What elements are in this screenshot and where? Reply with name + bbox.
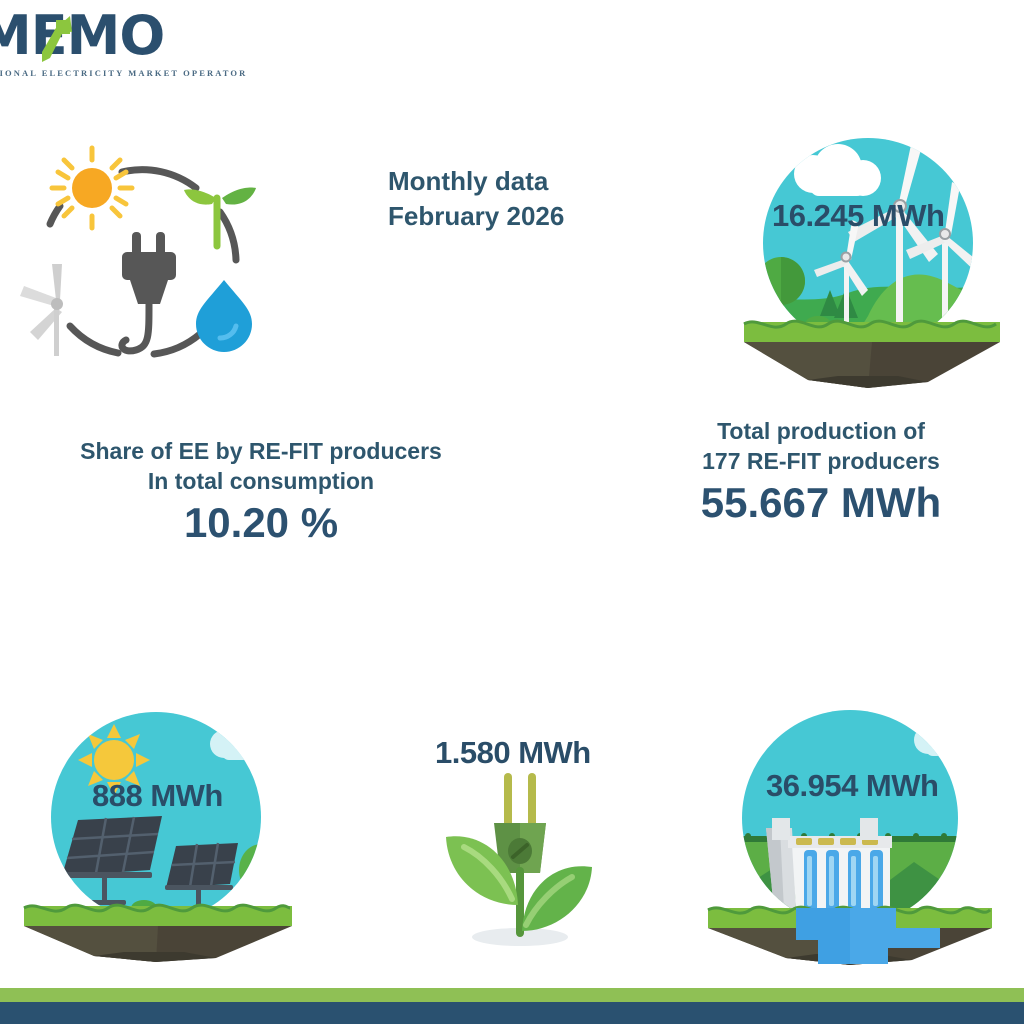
biomass-plug-plant-icon: [420, 765, 620, 950]
hydro-dam-island-icon: [700, 710, 1000, 965]
total-value: 55.667 MWh: [628, 476, 1014, 530]
footer-green-bar: [0, 988, 1024, 1002]
share-summary-block: Share of EE by RE-FIT producers In total…: [18, 436, 504, 550]
page-title: Monthly data February 2026: [388, 164, 648, 234]
biomass-value-label: 1.580 MWh: [435, 735, 591, 771]
tree-icon: [239, 844, 283, 914]
share-caption-line1: Share of EE by RE-FIT producers: [18, 436, 504, 466]
share-caption-line2: In total consumption: [18, 466, 504, 496]
solar-value-label: 888 MWh: [92, 778, 223, 814]
period-line: February 2026: [388, 199, 648, 234]
total-caption-line1: Total production of: [628, 416, 1014, 446]
cloud-icon: [210, 722, 264, 760]
brand-logo: MEMO NATIONAL ELECTRICITY MARKET OPERATO…: [0, 8, 198, 78]
wind-turbine-icon: [20, 264, 63, 356]
water-drop-icon: [196, 280, 252, 352]
brand-tagline: NATIONAL ELECTRICITY MARKET OPERATOR: [0, 68, 247, 78]
hydro-value-label: 36.954 MWh: [766, 768, 938, 804]
brand-logo-wordmark: MEMO: [0, 8, 164, 64]
sprout-icon: [184, 187, 256, 246]
power-plug-icon: [122, 232, 176, 351]
total-caption-line2: 177 RE-FIT producers: [628, 446, 1014, 476]
wind-value-label: 16.245 MWh: [772, 198, 944, 234]
share-value: 10.20 %: [18, 496, 504, 550]
total-production-block: Total production of 177 RE-FIT producers…: [628, 416, 1014, 530]
infographic-canvas: MEMO NATIONAL ELECTRICITY MARKET OPERATO…: [0, 0, 1024, 1024]
sun-icon: [52, 148, 132, 228]
green-up-arrow-icon: [36, 14, 76, 64]
wind-turbine-island-icon: [738, 138, 1006, 388]
monthly-data-line: Monthly data: [388, 164, 648, 199]
footer-navy-bar: [0, 1002, 1024, 1024]
solar-panel-island-icon: [16, 712, 300, 962]
cloud-icon: [914, 717, 970, 756]
renewable-energy-cycle-icon: [14, 140, 286, 370]
